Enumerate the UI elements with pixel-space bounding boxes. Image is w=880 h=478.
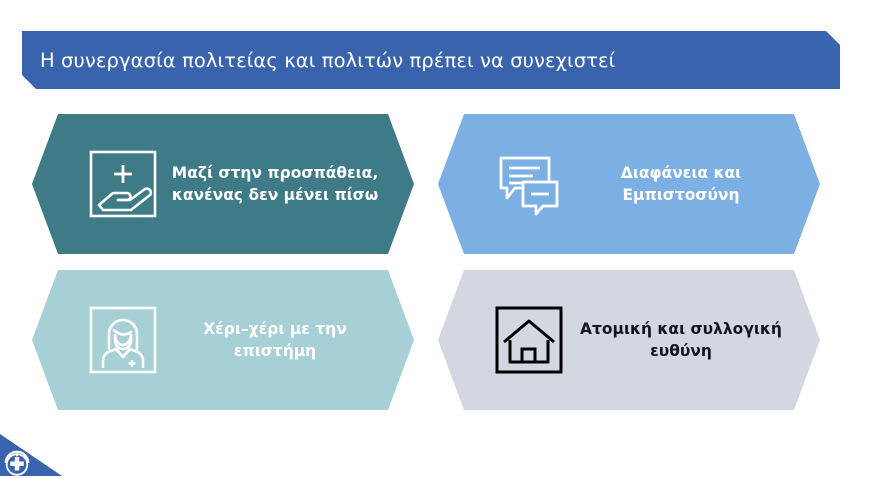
chat-bubbles-icon [486,148,572,220]
hand-holding-plus-icon [80,148,166,220]
slide-title-banner: Η συνεργασία πολιτείας και πολιτών πρέπε… [22,31,840,89]
house-icon [486,304,572,376]
card-solidarity-label: Μαζί στην προσπάθεια, κανένας δεν μένει … [166,162,414,206]
card-science-label: Χέρι–χέρι με την επιστήμη [166,318,414,362]
card-science: Χέρι–χέρι με την επιστήμη [32,270,414,410]
card-responsibility-label: Ατομική και συλλογική ευθύνη [572,318,820,362]
greek-government-emblem-corner [0,434,62,476]
card-responsibility: Ατομική και συλλογική ευθύνη [438,270,820,410]
card-transparency: Διαφάνεια και Εμπιστοσύνη [438,114,820,254]
card-solidarity: Μαζί στην προσπάθεια, κανένας δεν μένει … [32,114,414,254]
health-worker-portrait-icon [80,304,166,376]
card-transparency-label: Διαφάνεια και Εμπιστοσύνη [572,162,820,206]
page-title: Η συνεργασία πολιτείας και πολιτών πρέπε… [22,49,615,72]
greek-government-emblem-icon [2,448,32,478]
